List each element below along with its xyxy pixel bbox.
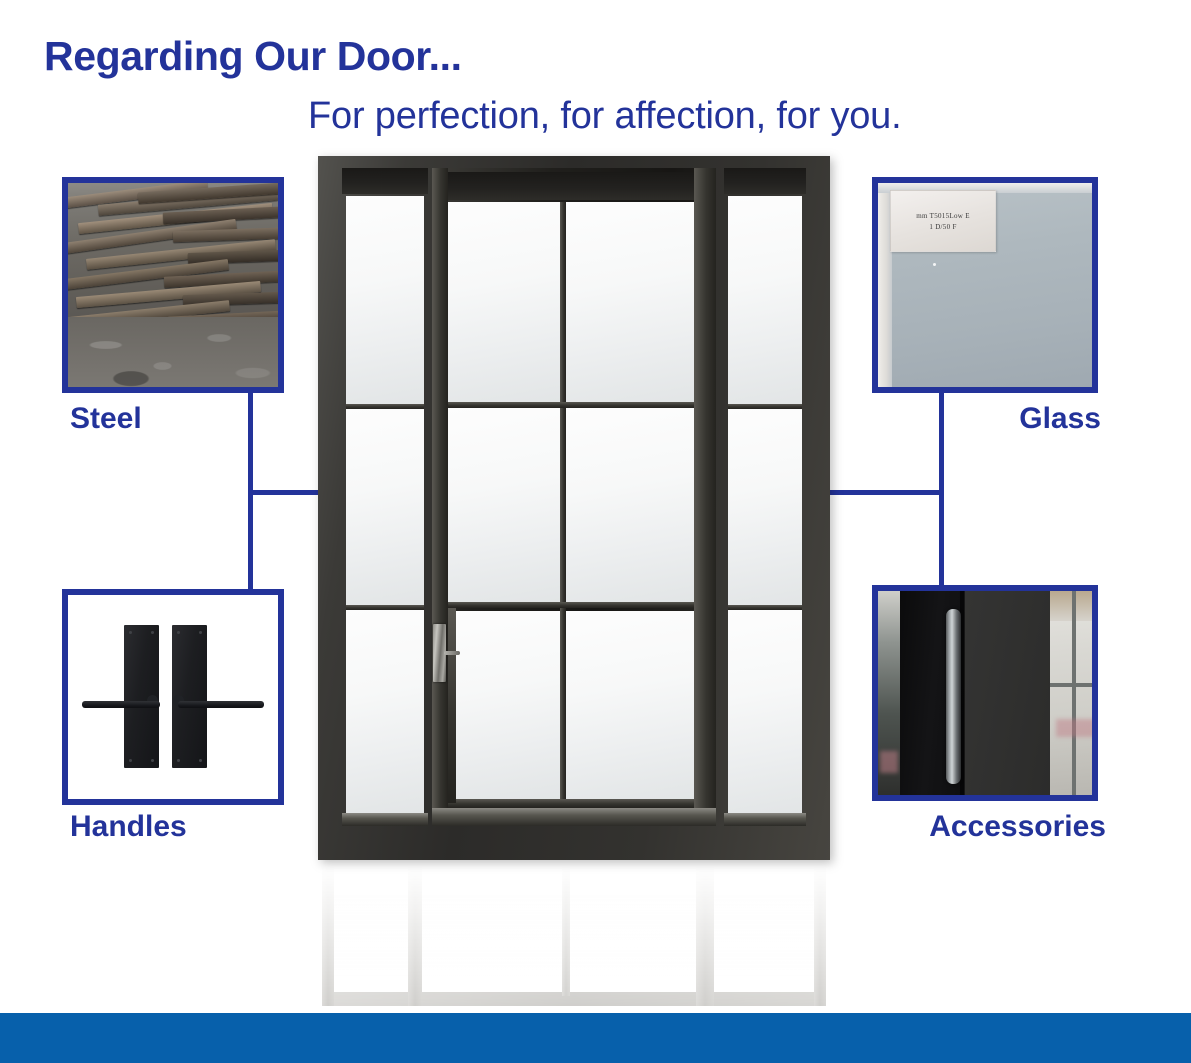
accessories-mid-wall [964,591,1050,795]
bottom-accent-bar [0,1013,1191,1063]
door-right-stile [694,168,716,826]
feature-card-label-accessories: Accessories [929,810,1106,844]
door-left-pane-top [448,202,560,402]
sidelite-right-pane-top [728,196,802,404]
page-title: Regarding Our Door... [44,33,462,80]
door-right-pane-mid [566,408,694,602]
feature-card-handles[interactable] [62,589,284,805]
sidelite-right-pane-mid [728,409,802,605]
connector-line-left-horizontal [248,490,324,495]
sidelite-left-pane-bottom [346,610,424,813]
glass-spec-sticker: mm T5015Low E 1 D/50 F [890,190,996,252]
door-right-pane-bottom [566,611,694,799]
sidelite-left-sill [342,813,428,826]
door-left-stile [432,168,448,826]
door-centre-meeting-stile [560,202,566,799]
steel-photo [68,183,278,387]
glass-photo: mm T5015Low E 1 D/50 F [878,183,1092,387]
sidelite-left-pane-top [346,196,424,404]
door-active-leaf-edge [448,608,456,803]
slide-canvas: Regarding Our Door... For perfection, fo… [0,0,1191,1063]
product-door-image[interactable] [318,156,830,860]
accessories-pull-handle [946,609,961,784]
handle-lever-right [178,701,264,708]
feature-card-label-handles: Handles [70,810,187,844]
door-left-pane-bottom [455,611,560,799]
door-bottom-rail [448,799,694,808]
accessories-left-glass [878,591,902,795]
sidelite-right-pane-bottom [728,610,802,813]
feature-card-accessories[interactable] [872,585,1098,801]
sidelite-left-pane-mid [346,409,424,605]
accessories-right-window [1050,591,1092,795]
door-handle-lever[interactable] [444,651,460,655]
glass-speck [933,263,936,266]
door-threshold [432,808,716,826]
page-subtitle: For perfection, for affection, for you. [308,95,901,138]
feature-card-label-glass: Glass [1019,402,1101,436]
feature-card-steel[interactable] [62,177,284,393]
door-mullion-horizontal-1 [448,402,694,408]
feature-card-glass[interactable]: mm T5015Low E 1 D/50 F [872,177,1098,393]
glass-sticker-line-1: mm T5015Low E [916,212,970,220]
feature-card-label-steel: Steel [70,402,142,436]
handle-lever-left [82,701,160,708]
door-mullion-horizontal-2 [448,602,694,608]
handles-photo [68,595,278,799]
door-right-pane-top [566,202,694,402]
connector-line-right-horizontal [826,490,944,495]
door-left-pane-mid [448,408,560,602]
door-head-bar [436,172,712,200]
steel-ground-texture [68,317,278,387]
door-outer-frame [318,156,830,860]
glass-sticker-line-2: 1 D/50 F [929,223,956,231]
sidelite-right-transom-bar [724,168,806,194]
sidelite-left-transom-bar [342,168,428,194]
accessories-photo [878,591,1092,795]
door-reflection [322,866,826,1006]
sidelite-right-sill [724,813,806,826]
